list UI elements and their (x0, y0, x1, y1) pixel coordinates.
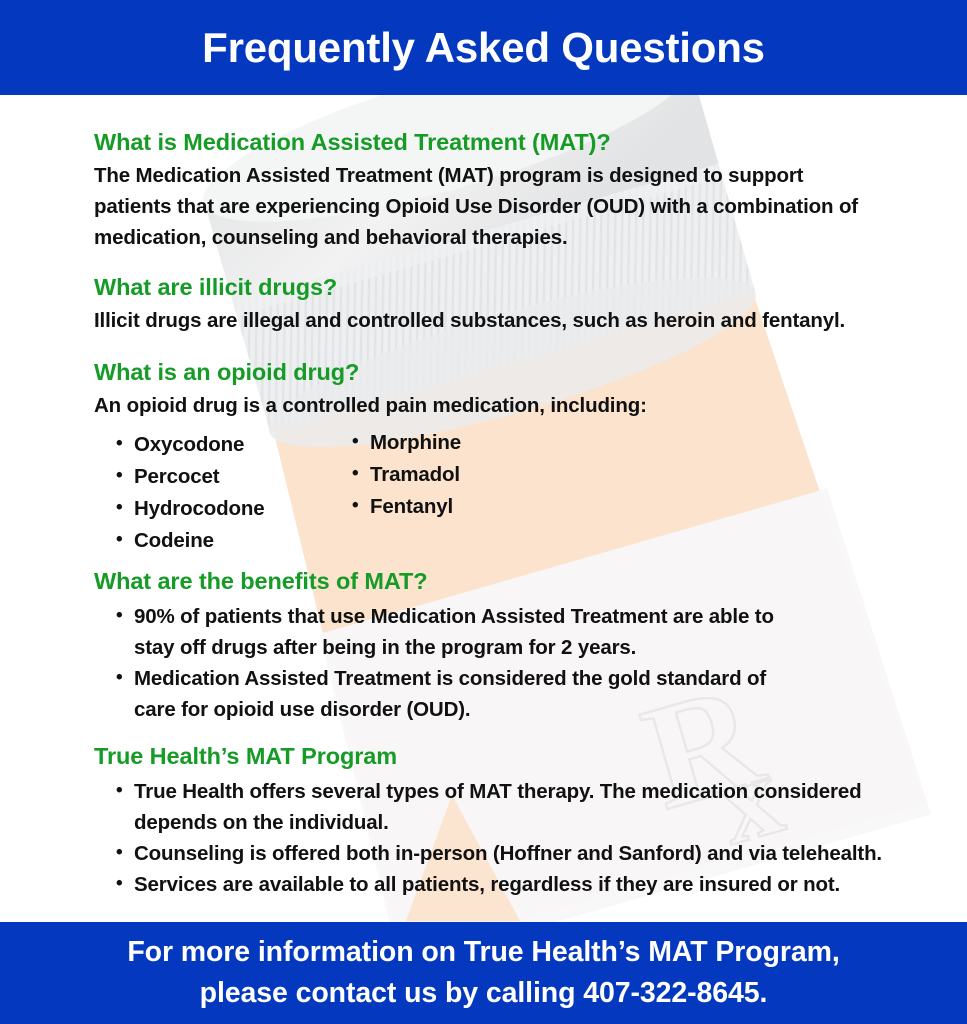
question-heading-illicit: What are illicit drugs? (94, 273, 894, 301)
list-item: Percocet (94, 461, 330, 493)
faq-content: What is Medication Assisted Treatment (M… (0, 95, 967, 922)
section-benefits: What are the benefits of MAT? 90% of pat… (94, 567, 894, 725)
list-item: Medication Assisted Treatment is conside… (94, 663, 806, 725)
footer-banner: For more information on True Health’s MA… (0, 922, 967, 1024)
heading-true-health-program: True Health’s MAT Program (94, 742, 894, 770)
answer-text-illicit: Illicit drugs are illegal and controlled… (94, 305, 874, 336)
list-item: 90% of patients that use Medication Assi… (94, 601, 794, 663)
opioid-drug-list-column-left: Oxycodone Percocet Hydrocodone Codeine (94, 429, 330, 557)
answer-text-opioid: An opioid drug is a controlled pain medi… (94, 390, 874, 421)
footer-line-1: For more information on True Health’s MA… (127, 932, 839, 973)
opioid-drug-list: Oxycodone Percocet Hydrocodone Codeine M… (94, 429, 894, 557)
opioid-drug-list-column-right: Morphine Tramadol Fentanyl (330, 429, 580, 557)
section-mat: What is Medication Assisted Treatment (M… (94, 128, 894, 253)
benefits-list: 90% of patients that use Medication Assi… (94, 601, 894, 725)
list-item: Morphine (330, 427, 580, 459)
list-item: Counseling is offered both in-person (Ho… (94, 838, 894, 869)
program-list: True Health offers several types of MAT … (94, 776, 894, 900)
faq-infographic: R x Frequently Asked Questions What is M… (0, 0, 967, 1024)
question-heading-benefits: What are the benefits of MAT? (94, 567, 894, 595)
section-opioid-drug: What is an opioid drug? An opioid drug i… (94, 358, 894, 557)
answer-text-mat: The Medication Assisted Treatment (MAT) … (94, 160, 874, 253)
list-item: Hydrocodone (94, 493, 330, 525)
footer-line-2: please contact us by calling 407-322-864… (200, 973, 768, 1014)
list-item: Services are available to all patients, … (94, 869, 894, 900)
list-item: Codeine (94, 525, 330, 557)
list-item: Tramadol (330, 459, 580, 491)
header-banner: Frequently Asked Questions (0, 0, 967, 95)
list-item: Oxycodone (94, 429, 330, 461)
question-heading-opioid: What is an opioid drug? (94, 358, 894, 386)
question-heading-mat: What is Medication Assisted Treatment (M… (94, 128, 894, 156)
section-illicit-drugs: What are illicit drugs? Illicit drugs ar… (94, 273, 894, 336)
section-true-health-program: True Health’s MAT Program True Health of… (94, 742, 894, 900)
page-title: Frequently Asked Questions (202, 27, 765, 69)
list-item: True Health offers several types of MAT … (94, 776, 894, 838)
list-item: Fentanyl (330, 491, 580, 523)
